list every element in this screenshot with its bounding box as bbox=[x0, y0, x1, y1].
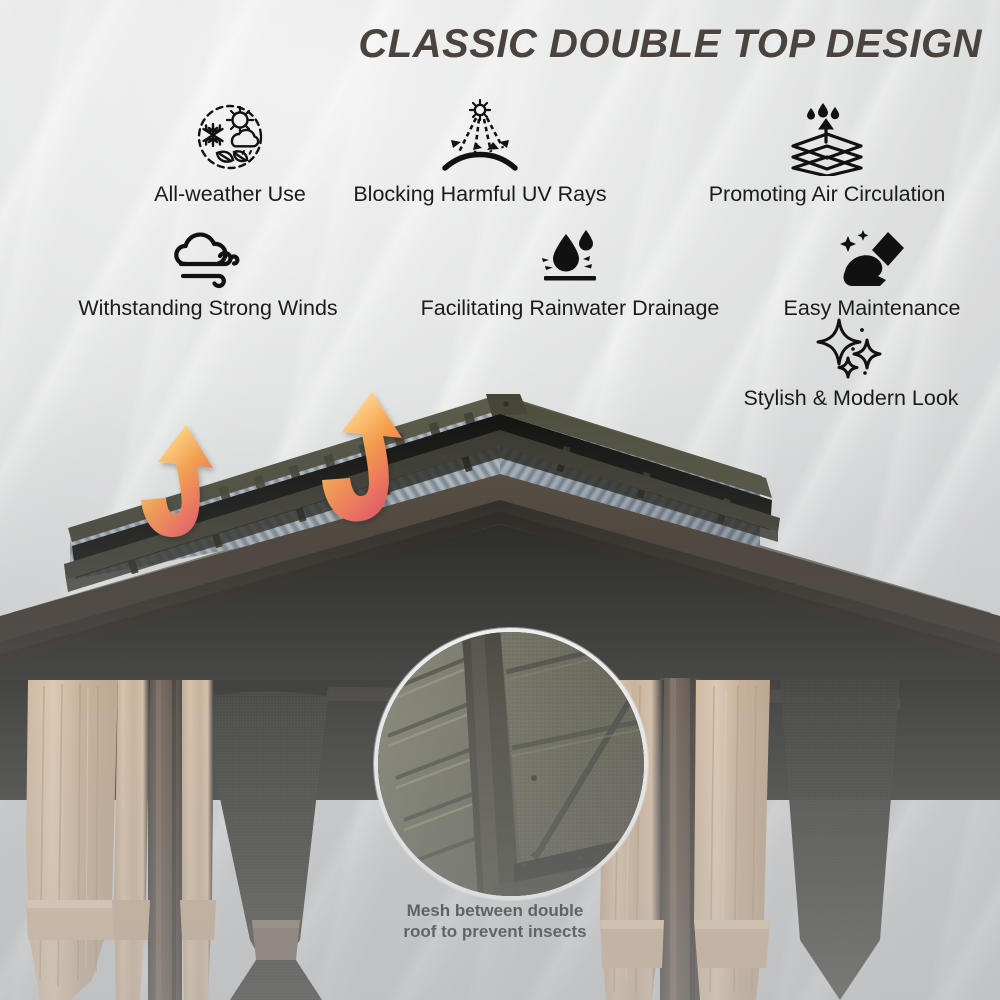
feature-air-circulation: Promoting Air Circulation bbox=[672, 98, 982, 207]
caption-line-2: roof to prevent insects bbox=[370, 921, 620, 942]
feature-label: All-weather Use bbox=[110, 183, 350, 207]
feature-label: Promoting Air Circulation bbox=[672, 183, 982, 207]
easy-maintenance-icon bbox=[762, 228, 982, 295]
feature-label: Facilitating Rainwater Drainage bbox=[390, 297, 750, 321]
sparkle-icon bbox=[718, 318, 984, 385]
feature-rain-drainage: Facilitating Rainwater Drainage bbox=[390, 228, 750, 321]
feature-stylish-modern: Stylish & Modern Look bbox=[718, 318, 984, 411]
callout-caption: Mesh between double roof to prevent inse… bbox=[370, 900, 620, 943]
feature-label: Blocking Harmful UV Rays bbox=[335, 183, 625, 207]
mesh-detail-callout bbox=[374, 628, 648, 900]
airflow-arrows bbox=[0, 380, 1000, 640]
feature-easy-maintenance: Easy Maintenance bbox=[762, 228, 982, 321]
page-title: CLASSIC DOUBLE TOP DESIGN bbox=[0, 22, 982, 67]
wind-icon bbox=[48, 228, 368, 295]
feature-label: Withstanding Strong Winds bbox=[48, 297, 368, 321]
feature-strong-winds: Withstanding Strong Winds bbox=[48, 228, 368, 321]
rain-drainage-icon bbox=[390, 228, 750, 295]
feature-label: Stylish & Modern Look bbox=[718, 387, 984, 411]
all-weather-icon bbox=[110, 98, 350, 181]
air-circulation-icon bbox=[672, 98, 982, 181]
product-feature-image: Mesh between double roof to prevent inse… bbox=[0, 0, 1000, 1000]
uv-rays-icon bbox=[335, 98, 625, 181]
airflow-arrow-right bbox=[322, 392, 402, 521]
feature-uv-rays: Blocking Harmful UV Rays bbox=[335, 98, 625, 207]
feature-all-weather: All-weather Use bbox=[110, 98, 350, 207]
airflow-arrow-left bbox=[141, 425, 213, 537]
caption-line-1: Mesh between double bbox=[370, 900, 620, 921]
